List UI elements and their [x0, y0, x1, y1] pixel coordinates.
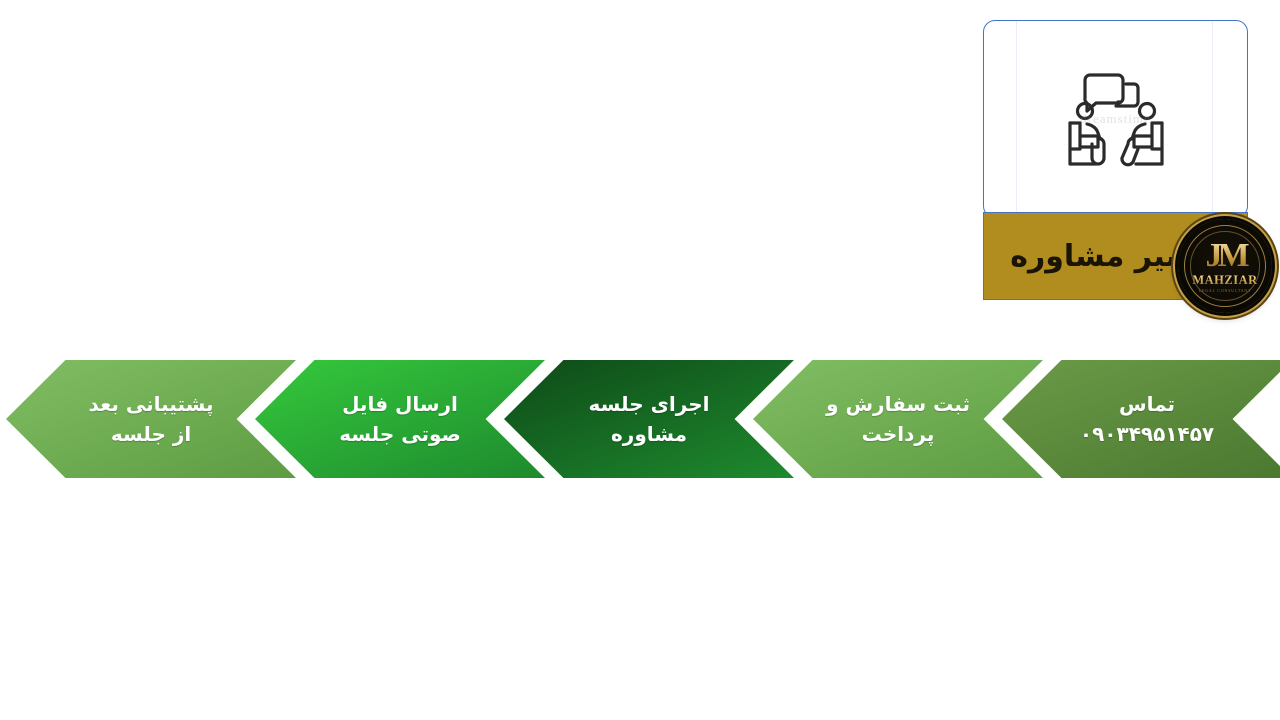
process-step-line2: صوتی جلسه	[339, 419, 461, 449]
process-step-line1: پشتیبانی بعد	[89, 389, 214, 419]
process-step-line2: ۰۹۰۳۴۹۵۱۴۵۷	[1080, 419, 1214, 449]
badge-content: JM MAHZIAR LEGAL CONSULTANT	[1192, 239, 1257, 293]
brand-name: MAHZIAR	[1192, 274, 1257, 287]
process-step-line2: پرداخت	[826, 419, 970, 449]
process-step-4[interactable]: ثبت سفارش وپرداخت	[753, 360, 1043, 478]
process-step-5[interactable]: تماس۰۹۰۳۴۹۵۱۴۵۷	[1002, 360, 1280, 478]
process-chevron-strip: پشتیبانی بعداز جلسهارسال فایلصوتی جلسهاج…	[0, 358, 1280, 482]
brand-logo-badge: JM MAHZIAR LEGAL CONSULTANT	[1178, 219, 1272, 313]
process-step-1[interactable]: پشتیبانی بعداز جلسه	[6, 360, 296, 478]
process-step-label: ارسال فایلصوتی جلسه	[325, 389, 475, 450]
process-step-3[interactable]: اجرای جلسهمشاوره	[504, 360, 794, 478]
process-step-line2: از جلسه	[89, 419, 214, 449]
consultation-card: dreamstime	[983, 20, 1248, 218]
process-step-label: تماس۰۹۰۳۴۹۵۱۴۵۷	[1066, 389, 1228, 450]
brand-subtitle: LEGAL CONSULTANT	[1192, 289, 1257, 293]
process-step-2[interactable]: ارسال فایلصوتی جلسه	[255, 360, 545, 478]
process-step-label: پشتیبانی بعداز جلسه	[75, 389, 228, 450]
process-step-label: ثبت سفارش وپرداخت	[812, 389, 984, 450]
consultation-icon-container	[984, 21, 1247, 217]
process-step-line1: اجرای جلسه	[589, 389, 710, 419]
brand-monogram: JM	[1192, 239, 1257, 273]
process-step-line1: تماس	[1080, 389, 1214, 419]
process-step-line1: ثبت سفارش و	[826, 389, 970, 419]
process-step-label: اجرای جلسهمشاوره	[575, 389, 724, 450]
process-step-line2: مشاوره	[589, 419, 710, 449]
consultation-meeting-icon	[1054, 60, 1178, 178]
process-step-line1: ارسال فایل	[339, 389, 461, 419]
